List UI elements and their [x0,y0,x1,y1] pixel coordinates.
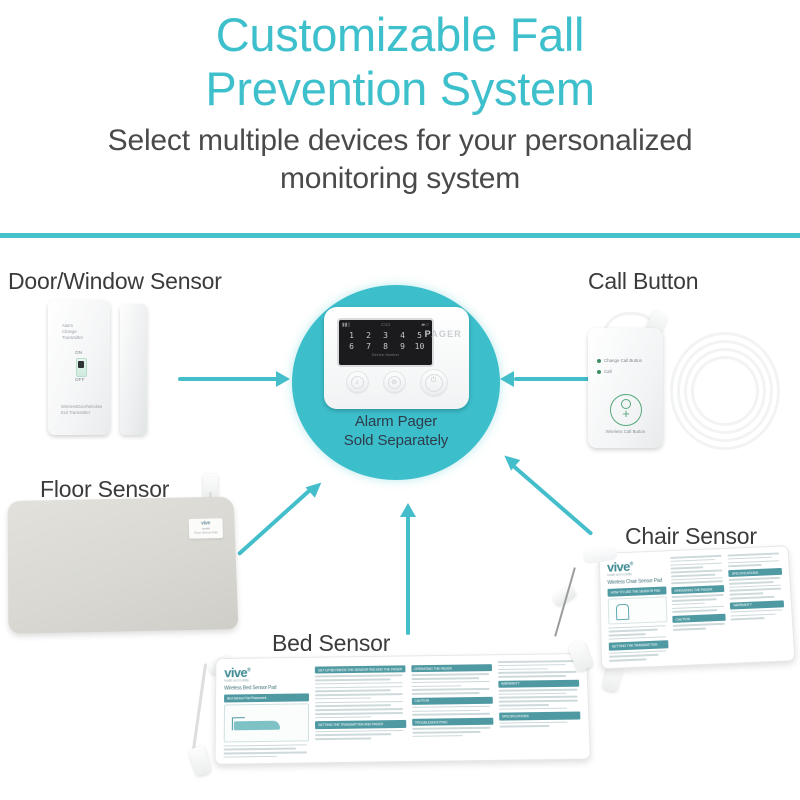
arrow-head [306,477,327,497]
bed-sensor-body-text [315,729,406,739]
bed-sensor-pad: vive® health and mobility Wireless Bed S… [214,653,590,765]
arrow-chair-to-pager [502,455,595,537]
arrow-head [500,371,514,387]
volume-button[interactable]: ♪ [346,371,369,394]
door-sensor-label-transmitter: Transmitter [62,335,83,341]
bed-sensor-section-heading: CAUTION [411,696,492,704]
door-sensor-magnet-bar [120,304,147,435]
door-sensor-top-labels: Alarm Change Transmitter [62,323,83,341]
arrow-head [400,503,416,517]
call-button-caption: Wireless Call Button [588,429,663,434]
door-window-sensor-device: Alarm Change Transmitter ON OFF Wireless… [48,300,188,440]
vive-logo-text: vive [224,665,247,680]
battery-icon: ▰▱ [421,321,429,329]
lcd-number: 1 [343,330,360,341]
bed-sensor-body-text [224,744,310,758]
bed-sensor-cord [192,663,207,750]
alarm-pager-hub: ▮▮▯ ▭▭ ▰▱ 1 2 3 4 5 6 7 8 9 10 Device Nu… [292,285,500,480]
chair-sensor-device: vive® health and mobility Wireless Chair… [540,548,800,738]
title-line-2: Prevention System [0,62,800,116]
floor-sensor-device: vive health Floor Sensor Pad [8,492,248,642]
call-button-cord-loop [691,356,759,426]
door-sensor-power-switch[interactable] [76,358,87,377]
bed-sensor-column-3: OPERATING THE PAGER CAUTION TROUBLESHOOT… [411,661,494,757]
hub-caption-line-1: Alarm Pager [292,413,500,432]
bed-sensor-section-heading: OPERATING THE PAGER [411,664,492,672]
bed-sensor-section-heading: Bed Sensor Pad Placement [224,694,309,702]
chair-sensor-section-heading: SPECIFICATIONS [729,568,782,577]
subtitle-line-1: Select multiple devices for your persona… [108,124,693,157]
title-line-1: Customizable Fall [216,8,584,61]
vive-logo: vive® [224,664,309,679]
arrow-shaft [237,489,311,556]
chair-sensor-column-1: vive® health and mobility Wireless Chair… [607,557,669,664]
infographic-canvas: Customizable Fall Prevention System Sele… [0,0,800,800]
door-sensor-off-label: OFF [75,377,85,382]
lcd-number: 2 [360,330,377,341]
call-button-change-label: Change Call Button [604,358,642,363]
chair-sensor-body-text [609,650,669,662]
chair-sensor-body-text [673,623,727,631]
floor-sensor-mat: vive health Floor Sensor Pad [8,496,239,633]
mute-icon: ⊘ [388,376,401,389]
chair-sensor-body-text [608,625,668,640]
alarm-pager-device[interactable]: ▮▮▯ ▭▭ ▰▱ 1 2 3 4 5 6 7 8 9 10 Device Nu… [324,307,469,409]
bed-sensor-column-2: SET UP BETWEEN THE SENSOR PAD AND THE PA… [315,662,406,759]
door-sensor-transmitter-body: Alarm Change Transmitter ON OFF Wireless… [48,300,110,435]
link-icon: ▭▭ [381,321,390,329]
power-button[interactable]: ⏻ [420,369,448,397]
page-subtitle: Select multiple devices for your persona… [0,122,800,197]
chair-sensor-product-name: Wireless Chair Sensor Pad [607,578,666,586]
call-button-row-call: Call [597,369,612,374]
page-title: Customizable Fall Prevention System [0,0,800,116]
bed-sensor-body-text [412,727,494,737]
lcd-number: 9 [394,341,411,352]
bed-sensor-body-text [315,674,406,718]
lcd-status-bar: ▮▮▯ ▭▭ ▰▱ [342,321,429,329]
chair-sensor-column-3: SPECIFICATIONS WARRANTY [728,552,787,658]
bed-sensor-plug [188,745,211,776]
arrow-shaft [178,377,278,381]
signal-icon: ▮▮▯ [342,321,350,329]
pager-brand-text: PAGER [425,329,462,339]
hub-caption: Alarm Pager Sold Separately [292,413,500,451]
label-call-button: Call Button [588,268,698,295]
arrow-bed-to-pager [400,503,416,638]
arrow-floor-to-pager [237,480,321,557]
chair-sensor-pad: vive® health and mobility Wireless Chair… [599,545,796,669]
lcd-number: 7 [360,341,377,352]
bed-sensor-body-text [411,673,492,694]
header-divider [0,233,800,238]
volume-icon: ♪ [351,376,364,389]
call-button-row-change: Change Call Button [597,358,642,363]
hub-caption-line-2: Sold Separately [292,432,500,451]
chair-sensor-body-text [671,594,725,613]
header: Customizable Fall Prevention System Sele… [0,0,800,238]
door-sensor-bottom-labels: WirelessDoor/Window Exit Transmitter [61,404,102,416]
chair-sensor-instruction-columns: vive® health and mobility Wireless Chair… [600,546,795,668]
call-person-icon[interactable] [610,394,642,426]
chair-sensor-section-heading: OPERATING THE PAGER [671,585,725,594]
lcd-device-number-grid: 1 2 3 4 5 6 7 8 9 10 [343,330,428,352]
bed-sensor-section-heading: SET UP BETWEEN THE SENSOR PAD AND THE PA… [315,665,405,673]
lcd-footer-text: Device Number [339,353,432,357]
bed-placement-diagram-icon [224,703,310,742]
pager-button-row: ♪ ⊘ ⏻ [324,371,469,397]
floor-sensor-brand-label: vive health Floor Sensor Pad [189,518,223,538]
power-icon: ⏻ [425,374,443,392]
bed-sensor-section-heading: SETTING THE TRANSMITTER AND PAGER [315,720,406,728]
led-indicator-icon [597,370,601,374]
lcd-number: 3 [377,330,394,341]
label-bed-sensor: Bed Sensor [272,630,390,657]
lcd-number: 8 [377,341,394,352]
arrow-shaft [406,515,410,635]
door-sensor-model-line-2: Exit Transmitter [61,410,102,416]
bed-sensor-body-text [412,706,493,716]
chair-sensor-section-heading: SETTING THE TRANSMITTER [609,641,669,651]
door-sensor-on-label: ON [75,350,82,355]
arrow-door-to-pager [178,371,293,387]
chair-sensor-body-text [731,609,785,620]
bed-sensor-column-1: vive® health and mobility Wireless Bed S… [224,664,310,761]
chair-sensor-section-heading: CAUTION [672,614,726,623]
chair-sensor-section-heading: HOW TO USE THE SENSOR PAD [608,587,667,597]
call-button-call-label: Call [604,369,612,374]
pager-lcd-screen: ▮▮▯ ▭▭ ▰▱ 1 2 3 4 5 6 7 8 9 10 Device Nu… [337,318,434,367]
chair-placement-diagram-icon [608,596,668,624]
chair-sensor-body-text [728,552,782,567]
chair-sensor-body-text [729,577,783,599]
bed-sensor-section-heading: TROUBLESHOOTING [412,718,493,726]
arrow-head [276,371,290,387]
bed-sensor-instruction-columns: vive® health and mobility Wireless Bed S… [215,654,589,764]
lcd-number: 4 [394,330,411,341]
vive-tagline: health and mobility [224,678,309,683]
chair-sensor-column-2: OPERATING THE PAGER CAUTION [670,555,728,661]
subtitle-line-2: monitoring system [0,160,800,198]
lcd-number: 6 [343,341,360,352]
lcd-number: 10 [411,341,428,352]
mute-button[interactable]: ⊘ [383,371,406,394]
label-chair-sensor: Chair Sensor [625,523,757,550]
chair-sensor-section-heading: WARRANTY [730,600,784,609]
call-button-body[interactable]: Change Call Button Call Wireless Call Bu… [588,328,663,448]
chair-sensor-plug [567,640,593,672]
led-indicator-icon [597,359,601,363]
chair-sensor-body-text [670,555,724,585]
bed-sensor-product-name: Wireless Bed Sensor Pad [224,685,309,692]
floor-sensor-label-sub-2: Floor Sensor Pad [189,530,223,535]
arrow-shaft [512,465,593,536]
label-door-window-sensor: Door/Window Sensor [8,268,222,295]
call-button-device: Change Call Button Call Wireless Call Bu… [588,310,798,460]
